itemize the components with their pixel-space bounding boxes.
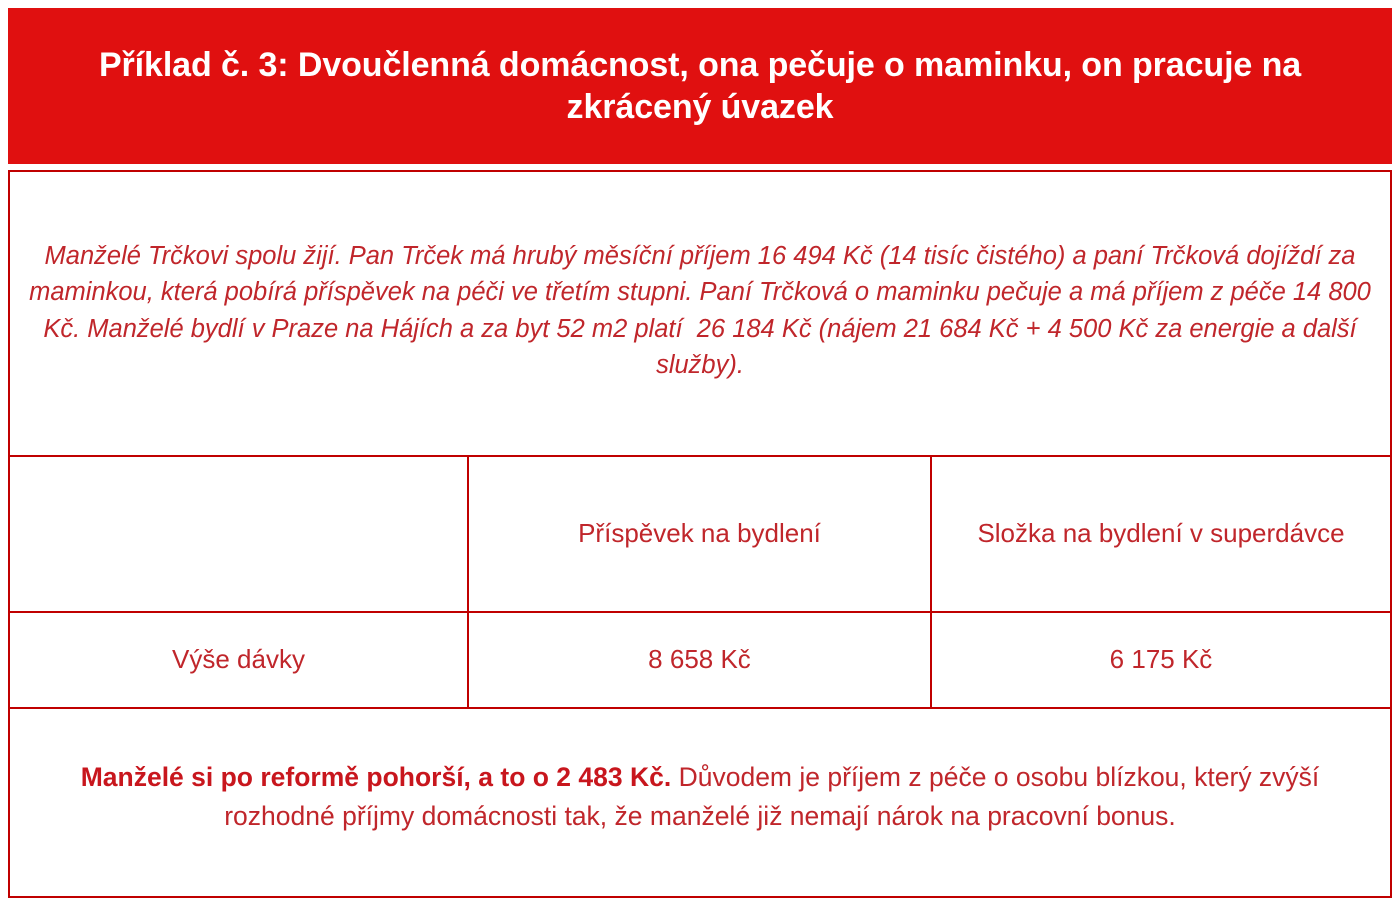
title-banner: Příklad č. 3: Dvoučlenná domácnost, ona … — [8, 8, 1392, 164]
table-row-label-vyse-davky: Výše dávky — [10, 613, 467, 707]
table-header-row: Příspěvek na bydlení Složka na bydlení v… — [10, 457, 1390, 613]
table-cell-prispevek-value: 8 658 Kč — [467, 613, 930, 707]
table-header-corner — [10, 457, 467, 611]
table-cell-superdavka-value: 6 175 Kč — [930, 613, 1390, 707]
table-header-prispevek-na-bydleni: Příspěvek na bydlení — [467, 457, 930, 611]
table-row: Výše dávky 8 658 Kč 6 175 Kč — [10, 613, 1390, 709]
intro-row: Manželé Trčkovi spolu žijí. Pan Trček má… — [10, 172, 1390, 457]
content-table: Manželé Trčkovi spolu žijí. Pan Trček má… — [8, 170, 1392, 898]
conclusion-emphasis: Manželé si po reformě pohorší, a to o 2 … — [81, 762, 672, 792]
conclusion-row: Manželé si po reformě pohorší, a to o 2 … — [10, 709, 1390, 896]
page-title: Příklad č. 3: Dvoučlenná domácnost, ona … — [38, 44, 1362, 129]
table-header-slozka-na-bydleni-v-superdavce: Složka na bydlení v superdávce — [930, 457, 1390, 611]
slide-root: Příklad č. 3: Dvoučlenná domácnost, ona … — [0, 0, 1400, 906]
intro-paragraph: Manželé Trčkovi spolu žijí. Pan Trček má… — [22, 238, 1378, 383]
conclusion-paragraph: Manželé si po reformě pohorší, a to o 2 … — [34, 758, 1366, 834]
